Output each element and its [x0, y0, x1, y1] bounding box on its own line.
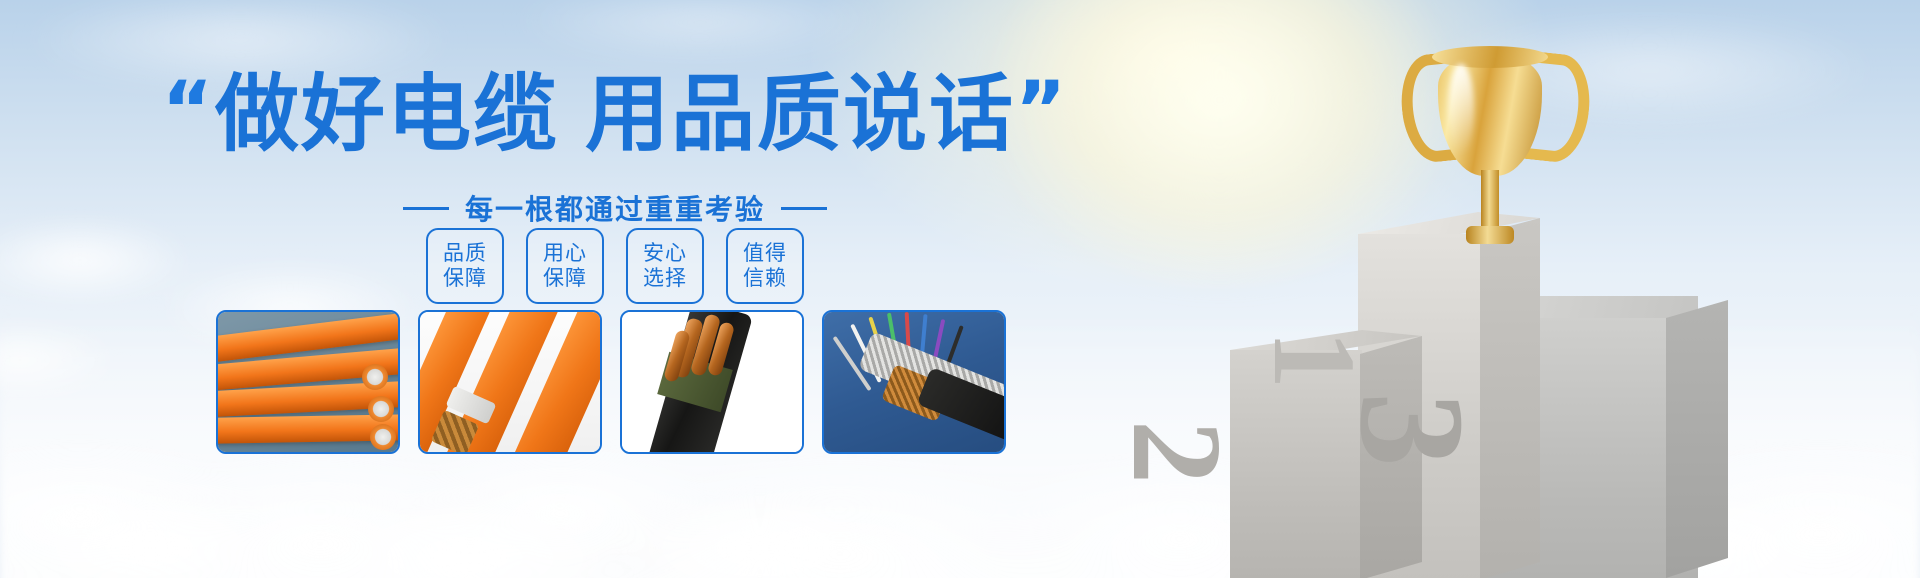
open-quote-mark: “	[162, 66, 215, 156]
feature-badges: 品质 保障 用心 保障 安心 选择 值得 信赖	[0, 228, 1230, 304]
podium-block-3-side	[1666, 300, 1728, 578]
trophy-icon	[1390, 30, 1590, 240]
close-quote-mark: ”	[1015, 66, 1068, 156]
subtitle-rule-left	[403, 207, 449, 210]
banner-content: “做好电缆用品质说话” 每一根都通过重重考验 品质 保障 用心 保障 安心 选择…	[0, 0, 1230, 578]
badge-line-1: 用心	[543, 241, 587, 266]
badge-quality-guarantee[interactable]: 品质 保障	[426, 228, 504, 304]
subtitle-row: 每一根都通过重重考验	[0, 188, 1230, 228]
hero-banner: 1 2 3 “做好电缆用品质说话” 每一根都通过重重考验 品质 保障	[0, 0, 1920, 578]
thumbnail-orange-flat-cable-closeup[interactable]	[418, 310, 602, 454]
thumbnail-black-armoured-copper-cable[interactable]	[620, 310, 804, 454]
badge-line-1: 品质	[443, 241, 487, 266]
badge-safe-choice[interactable]: 安心 选择	[626, 228, 704, 304]
trophy-stem	[1481, 170, 1499, 232]
thumbnail-image	[420, 312, 600, 452]
headline-part-2: 用品质说话	[585, 65, 1015, 163]
badge-trustworthy[interactable]: 值得 信赖	[726, 228, 804, 304]
podium-rank-3: 3	[1326, 392, 1498, 467]
trophy-rim	[1432, 46, 1548, 68]
thumbnail-image	[824, 312, 1004, 452]
thumbnail-multicore-shielded-cable[interactable]	[822, 310, 1006, 454]
subtitle-text: 每一根都通过重重考验	[465, 188, 765, 228]
podium-rank-1: 1	[1246, 330, 1382, 389]
page-title: “做好电缆用品质说话”	[0, 72, 1230, 156]
trophy-base	[1466, 226, 1514, 244]
winners-podium: 1 2 3	[1230, 0, 1920, 578]
badge-line-2: 选择	[643, 266, 687, 291]
badge-line-2: 信赖	[743, 266, 787, 291]
badge-attentive-guarantee[interactable]: 用心 保障	[526, 228, 604, 304]
thumbnail-image	[622, 312, 802, 452]
badge-line-2: 保障	[543, 266, 587, 291]
thumbnail-orange-round-cable-bundle[interactable]	[216, 310, 400, 454]
headline-part-1: 做好电缆	[215, 65, 559, 163]
badge-line-1: 安心	[643, 241, 687, 266]
trophy-highlight	[1448, 64, 1474, 156]
badge-line-1: 值得	[743, 241, 787, 266]
product-thumbnail-strip	[216, 310, 1006, 454]
subtitle-rule-right	[781, 207, 827, 210]
thumbnail-image	[218, 312, 398, 452]
badge-line-2: 保障	[443, 266, 487, 291]
